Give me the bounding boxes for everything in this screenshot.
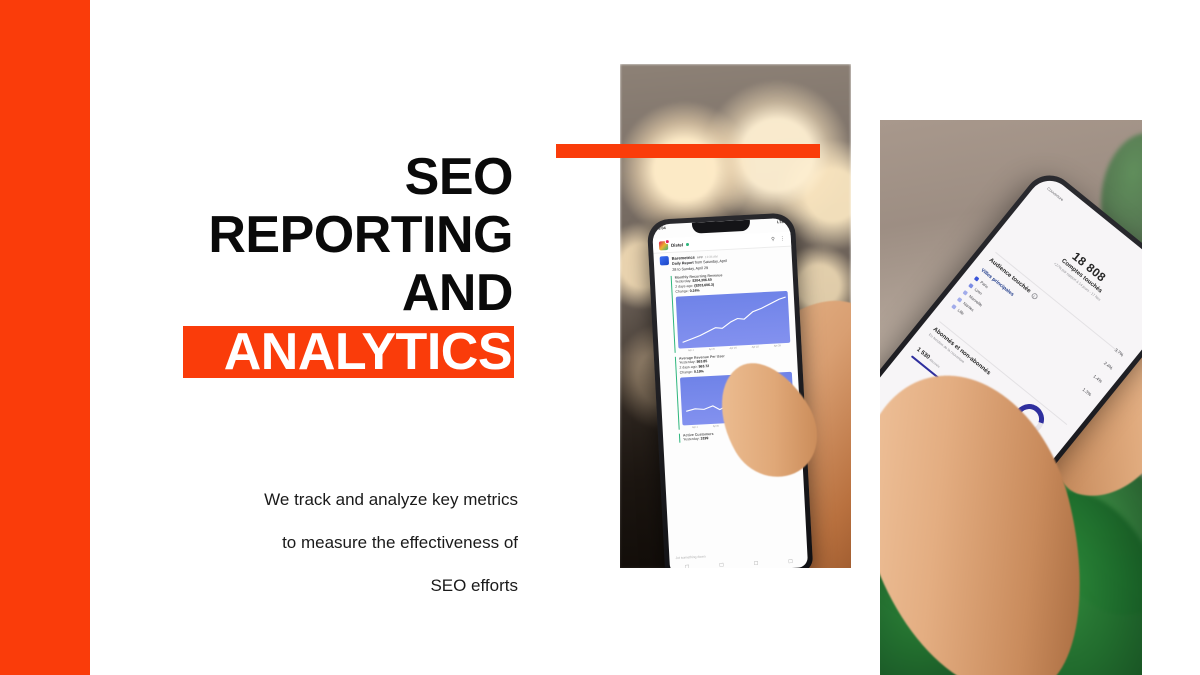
notification-badge-icon [665,238,670,243]
phone-notch [692,220,750,234]
x-tick: Apr 1 [688,349,694,352]
photo-slack-analytics: 5:04 LTE Distel ⚲ ⋮ [620,64,851,568]
status-network: LTE [777,220,784,224]
sender-app-tag: APP [697,255,703,259]
left-accent-bar [0,0,90,675]
avatar [660,256,669,265]
subtitle-text: We track and analyze key metrics to meas… [98,478,518,607]
metric-value: 3199 [701,436,709,440]
city-percent: 1.3% [1082,387,1093,397]
mrr-line-chart [676,291,791,349]
report-range-1: from Saturday, April [695,259,727,265]
workspace-name: Distel [671,242,683,248]
status-time: 5:04 [658,226,666,230]
followers-stat: 1 530 Abonnés [915,347,941,370]
x-tick: Apr 1 [692,426,698,429]
title-line-3: AND [93,264,513,322]
metric-value: $63.85 [696,359,707,364]
legend-swatch-icon [951,304,957,310]
search-icon[interactable]: ⚲ [771,236,775,242]
x-tick: Apr 22 [752,346,759,349]
metric-label: Change: [675,289,688,294]
metric-value: 0.24% [690,289,700,294]
city-name: Lyon [974,287,984,296]
city-percent: 3.7% [1114,347,1125,357]
subtitle-line-1: We track and analyze key metrics [98,478,518,521]
city-percent: 2.4% [1103,360,1114,370]
report-title: Daily Report [672,261,694,266]
more-options-icon[interactable]: ⋮ [780,236,785,242]
bottom-tab-bar: ☐ ☐ ☐ ☐ [670,558,808,568]
text-column: SEO REPORTING AND ANALYTICS We track and… [90,0,520,675]
x-tick: Apr 15 [730,347,737,350]
online-status-icon [686,242,689,245]
slide-root: SEO REPORTING AND ANALYTICS We track and… [0,0,1200,675]
insights-metric-selector[interactable]: Couverture [1046,186,1065,202]
city-name: Paris [979,280,989,290]
title-highlight-box: ANALYTICS [183,326,514,378]
report-range-2: 28 to Sunday, April 29 [672,266,708,272]
metric-label: Change: [680,370,693,375]
tab-home-icon[interactable]: ☐ [685,564,690,568]
message-time: 12:34 AM [705,254,718,259]
header-actions: ⚲ ⋮ [771,236,785,243]
chart-svg [676,291,791,349]
tab-mentions-icon[interactable]: ☐ [754,561,759,567]
message-meta: BaremetricsAPP12:34 AM Daily Report from… [672,253,728,273]
subtitle-line-2: to measure the effectiveness of [98,521,518,564]
metric-value: ($203,606.3) [694,283,714,288]
subtitle-line-3: SEO efforts [98,564,518,607]
info-icon[interactable]: i [1030,292,1038,300]
tab-search-icon[interactable]: ☐ [788,559,793,565]
accent-rule [556,144,820,158]
photo-instagram-insights: Couverture 14 Nov - 18 nov 18 808 Compte… [880,120,1142,675]
legend-swatch-icon [974,276,980,282]
page-title: SEO REPORTING AND ANALYTICS [93,148,513,382]
legend-swatch-icon [963,290,969,296]
city-name: Lille [957,308,966,316]
metric-card-mrr: Monthly Recurring Revenue Yesterday: $20… [671,270,791,353]
followers-label: Abonnés [928,358,940,369]
legend-swatch-icon [968,283,974,289]
report-headline: Daily Report from Saturday, April 28 to … [672,259,727,273]
x-tick: Apr 29 [774,344,781,347]
title-highlight-wrap: ANALYTICS [93,326,513,382]
title-line-1: SEO [93,148,513,206]
x-tick: Apr 8 [713,425,719,428]
title-line-2: REPORTING [93,206,513,264]
metric-value: 0.19% [694,370,704,375]
metric-label: Yesterday: [683,437,700,442]
city-percent: 1.4% [1092,374,1103,384]
tab-dm-icon[interactable]: ☐ [719,563,724,568]
legend-swatch-icon [957,297,963,303]
metric-value: $63.72 [698,364,709,369]
x-tick: Apr 8 [709,348,715,351]
slack-logo-icon [659,241,668,250]
title-line-4-highlighted: ANALYTICS [224,326,512,378]
